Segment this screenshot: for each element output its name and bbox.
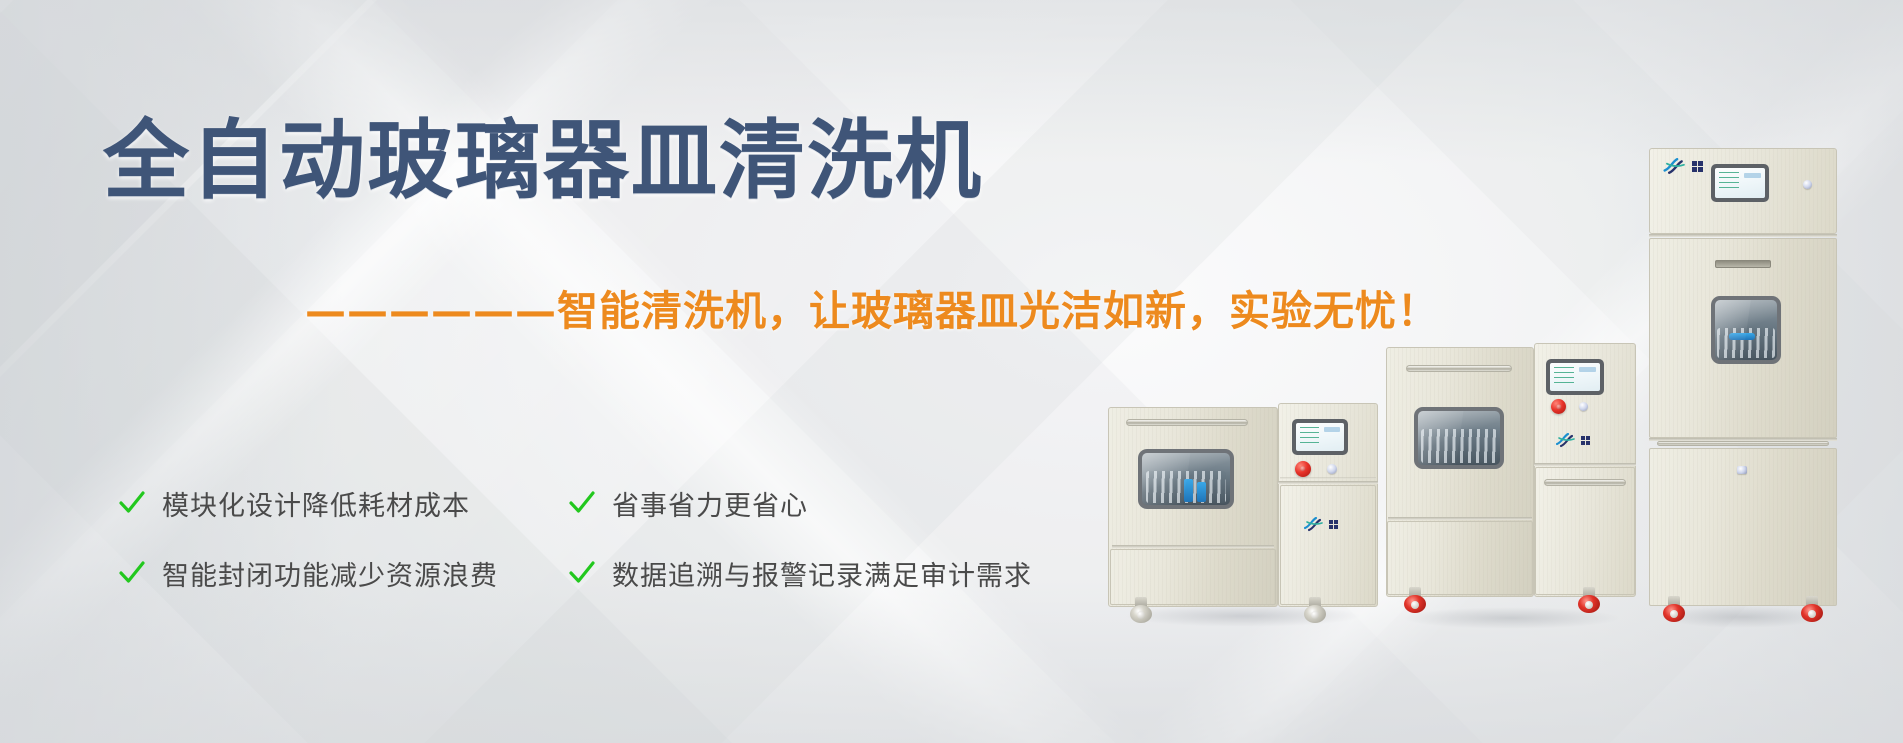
logo-squares-icon [1329, 520, 1338, 529]
check-icon [568, 559, 596, 587]
list-item: 数据追溯与报警记录满足审计需求 [568, 554, 1032, 593]
list-item: 智能封闭功能减少资源浪费 [118, 554, 568, 593]
check-icon [118, 559, 146, 587]
lower-door-handle [1544, 479, 1626, 486]
product-image-freestanding-washer: 立式全自动玻璃器皿清洗机 [1386, 337, 1636, 619]
logo-squares-icon [1692, 161, 1703, 172]
viewing-window [1414, 407, 1504, 469]
lower-door-handle [1657, 441, 1829, 446]
feature-label: 模块化设计降低耗材成本 [162, 484, 470, 523]
touchscreen-hmi[interactable] [1546, 359, 1604, 395]
product-2-alt: 立式全自动玻璃器皿清洗机 [1386, 337, 1387, 338]
caster-wheel [1578, 587, 1600, 613]
brand-logo [1304, 517, 1338, 532]
brand-logo [1663, 158, 1703, 175]
emergency-stop-button[interactable] [1551, 399, 1566, 414]
vent-slot [1715, 260, 1771, 268]
product-image-tall-column-washer: 高柜式全自动玻璃器皿清洗机 [1649, 148, 1837, 618]
door-lock-icon [1737, 466, 1747, 474]
product-3-alt: 高柜式全自动玻璃器皿清洗机 [1649, 148, 1650, 149]
caster-wheel [1801, 596, 1823, 622]
page-subtitle: ——————智能清洗机，让玻璃器皿光洁如新，实验无忧！ [305, 291, 1439, 332]
feature-label: 省事省力更省心 [612, 484, 808, 523]
door-handle [1406, 365, 1512, 372]
door-handle [1126, 419, 1248, 426]
check-icon [568, 489, 596, 517]
touchscreen-hmi[interactable] [1292, 419, 1348, 455]
list-item: 模块化设计降低耗材成本 [118, 484, 568, 523]
feature-list: 模块化设计降低耗材成本 省事省力更省心 智能封闭功能减少资源浪费 [118, 468, 1032, 608]
viewing-window [1138, 449, 1234, 509]
caster-wheel [1404, 587, 1426, 613]
product-1-alt: 台下式全自动玻璃器皿清洗机 [1108, 399, 1109, 400]
viewing-window [1711, 296, 1781, 364]
power-indicator-button[interactable] [1327, 464, 1337, 474]
caster-wheel [1663, 596, 1685, 622]
brand-logo [1556, 433, 1590, 448]
product-banner: 全自动玻璃器皿清洗机 ——————智能清洗机，让玻璃器皿光洁如新，实验无忧！ 模… [0, 0, 1903, 743]
emergency-stop-button[interactable] [1295, 461, 1311, 477]
caster-wheel [1304, 597, 1326, 623]
page-title: 全自动玻璃器皿清洗机 [103, 118, 983, 204]
feature-label: 智能封闭功能减少资源浪费 [162, 554, 498, 593]
check-icon [118, 489, 146, 517]
touchscreen-hmi[interactable] [1711, 164, 1769, 202]
power-indicator-button[interactable] [1579, 402, 1588, 411]
feature-label: 数据追溯与报警记录满足审计需求 [612, 554, 1032, 593]
list-item: 省事省力更省心 [568, 484, 1032, 523]
logo-squares-icon [1581, 436, 1590, 445]
caster-wheel [1130, 597, 1152, 623]
power-indicator-button[interactable] [1803, 180, 1812, 189]
product-image-undercounter-washer: 台下式全自动玻璃器皿清洗机 [1108, 399, 1378, 617]
